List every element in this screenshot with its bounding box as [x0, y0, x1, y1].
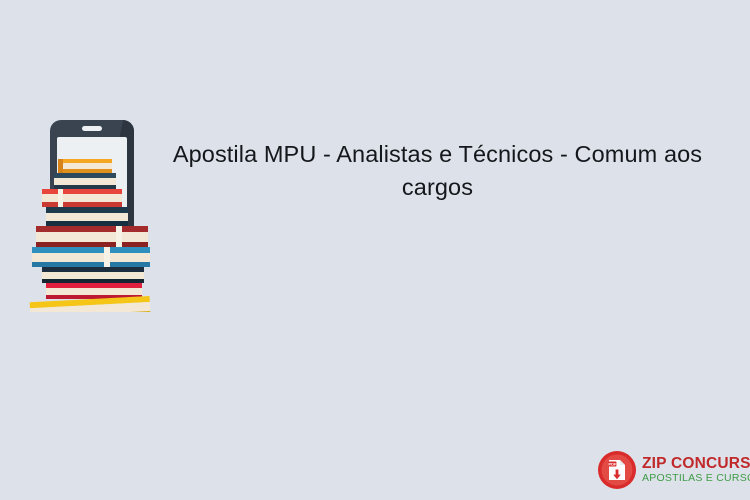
book-darkred — [36, 226, 148, 247]
book-navy — [46, 207, 128, 226]
product-banner: Apostila MPU - Analistas e Técnicos - Co… — [0, 0, 750, 500]
brand-logo[interactable]: PDF ZIP CONCURSOS APOSTILAS E CURSOS — [597, 448, 742, 492]
stack-of-books-illustration — [12, 112, 172, 312]
book-red — [42, 189, 122, 207]
brand-tagline: APOSTILAS E CURSOS — [642, 472, 750, 485]
brand-name: ZIP CONCURSOS — [642, 455, 750, 472]
book-orange-top — [58, 159, 112, 173]
book-darkteal — [54, 173, 116, 189]
pdf-download-icon: PDF — [597, 450, 637, 490]
book-blue — [32, 247, 150, 267]
book-slate — [42, 267, 144, 283]
product-title: Apostila MPU - Analistas e Técnicos - Co… — [165, 138, 710, 204]
brand-logo-text: ZIP CONCURSOS APOSTILAS E CURSOS — [642, 455, 750, 485]
svg-text:PDF: PDF — [609, 462, 618, 467]
product-title-block: Apostila MPU - Analistas e Técnicos - Co… — [165, 138, 710, 204]
book-crimson — [46, 283, 142, 299]
